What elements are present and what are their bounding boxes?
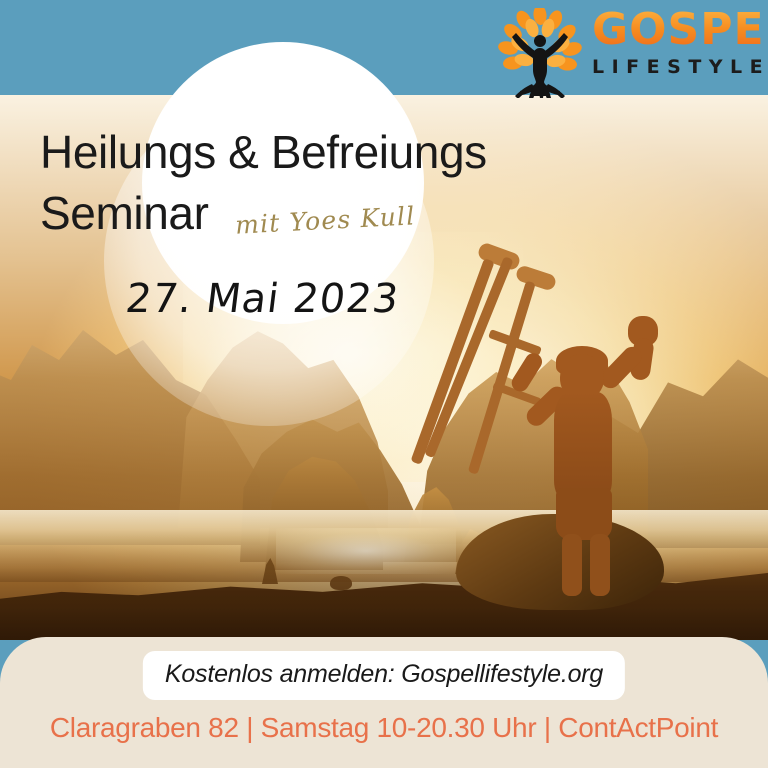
headline-line-1: Heilungs & Befreiungs bbox=[40, 122, 520, 183]
event-date: 27. Mai 2023 bbox=[123, 276, 402, 322]
leg-right bbox=[590, 534, 610, 596]
man-silhouette bbox=[482, 242, 672, 542]
presenter-name: mit Yoes Kull bbox=[234, 199, 416, 241]
brand-logo[interactable]: GOSPEL LIFESTYLE bbox=[486, 6, 752, 98]
crutch-pad-2 bbox=[515, 264, 558, 292]
headline-line-2: Seminar bbox=[40, 183, 209, 244]
leg-left bbox=[562, 534, 582, 596]
tree-person-icon bbox=[494, 8, 586, 98]
forearm-left bbox=[509, 350, 546, 395]
registration-cta-label: Kostenlos anmelden: Gospellifestyle.org bbox=[165, 660, 603, 688]
torso bbox=[554, 392, 612, 500]
headline-block: Heilungs & Befreiungs Seminar mit Yoes K… bbox=[40, 122, 520, 243]
shorts bbox=[556, 488, 612, 540]
footer-panel: Kostenlos anmelden: Gospellifestyle.org … bbox=[0, 637, 768, 768]
venue-details: Claragraben 82 | Samstag 10-20.30 Uhr | … bbox=[0, 712, 768, 744]
event-flyer: Heilungs & Befreiungs Seminar mit Yoes K… bbox=[0, 0, 768, 768]
logo-name: GOSPEL bbox=[592, 8, 768, 52]
logo-wordmark: GOSPEL LIFESTYLE bbox=[592, 8, 768, 78]
registration-cta[interactable]: Kostenlos anmelden: Gospellifestyle.org bbox=[143, 651, 625, 700]
logo-tagline: LIFESTYLE bbox=[592, 56, 768, 78]
headline-line-2-row: Seminar mit Yoes Kull bbox=[40, 183, 520, 244]
